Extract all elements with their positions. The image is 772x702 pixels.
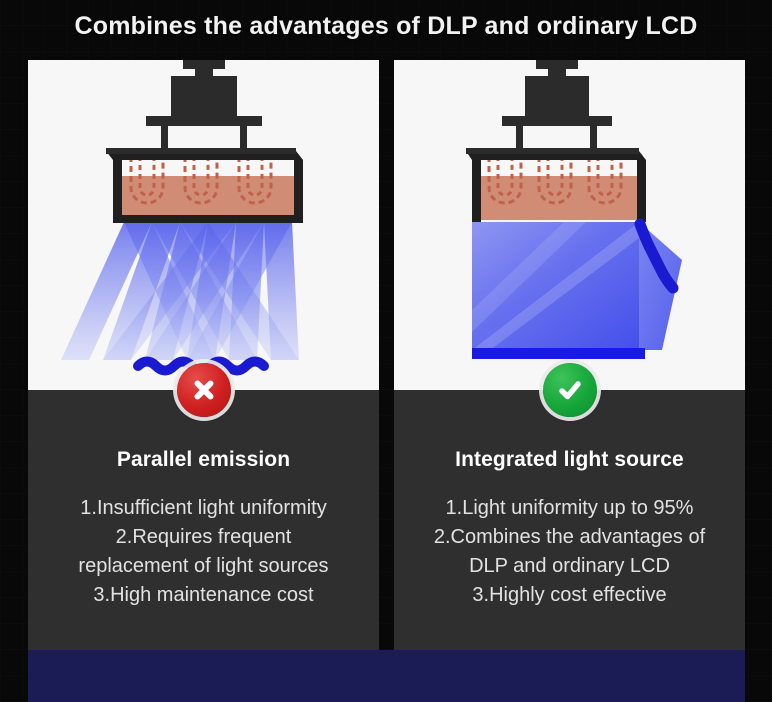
card-line: 3.Highly cost effective [434, 581, 705, 610]
card-integrated-light-source: Integrated light source 1.Light uniformi… [394, 60, 745, 650]
card-heading-integrated-light-source: Integrated light source [455, 448, 684, 472]
projector-diverging-beams-graphic [28, 60, 379, 390]
bottom-accent-bar [28, 650, 745, 702]
card-line: 1.Light uniformity up to 95% [434, 494, 705, 523]
check-icon [543, 363, 597, 417]
card-line: 2.Requires frequent [78, 523, 328, 552]
card-parallel-emission: Parallel emission 1.Insufficient light u… [28, 60, 379, 650]
card-heading-parallel-emission: Parallel emission [117, 448, 290, 472]
comparison-cards: Parallel emission 1.Insufficient light u… [28, 60, 745, 650]
card-lines-parallel-emission: 1.Insufficient light uniformity 2.Requir… [68, 494, 338, 610]
card-line: DLP and ordinary LCD [434, 552, 705, 581]
card-line: 2.Combines the advantages of [434, 523, 705, 552]
illustration-integrated-light-source [394, 60, 745, 390]
panel-integrated-light-source: Integrated light source 1.Light uniformi… [394, 390, 745, 650]
page-title: Combines the advantages of DLP and ordin… [0, 4, 772, 48]
card-line: 3.High maintenance cost [78, 581, 328, 610]
cross-icon [177, 363, 231, 417]
card-line: replacement of light sources [78, 552, 328, 581]
projector-solid-light-block-graphic [394, 60, 745, 390]
card-lines-integrated-light-source: 1.Light uniformity up to 95% 2.Combines … [424, 494, 715, 610]
card-line: 1.Insufficient light uniformity [78, 494, 328, 523]
panel-parallel-emission: Parallel emission 1.Insufficient light u… [28, 390, 379, 650]
illustration-parallel-emission [28, 60, 379, 390]
